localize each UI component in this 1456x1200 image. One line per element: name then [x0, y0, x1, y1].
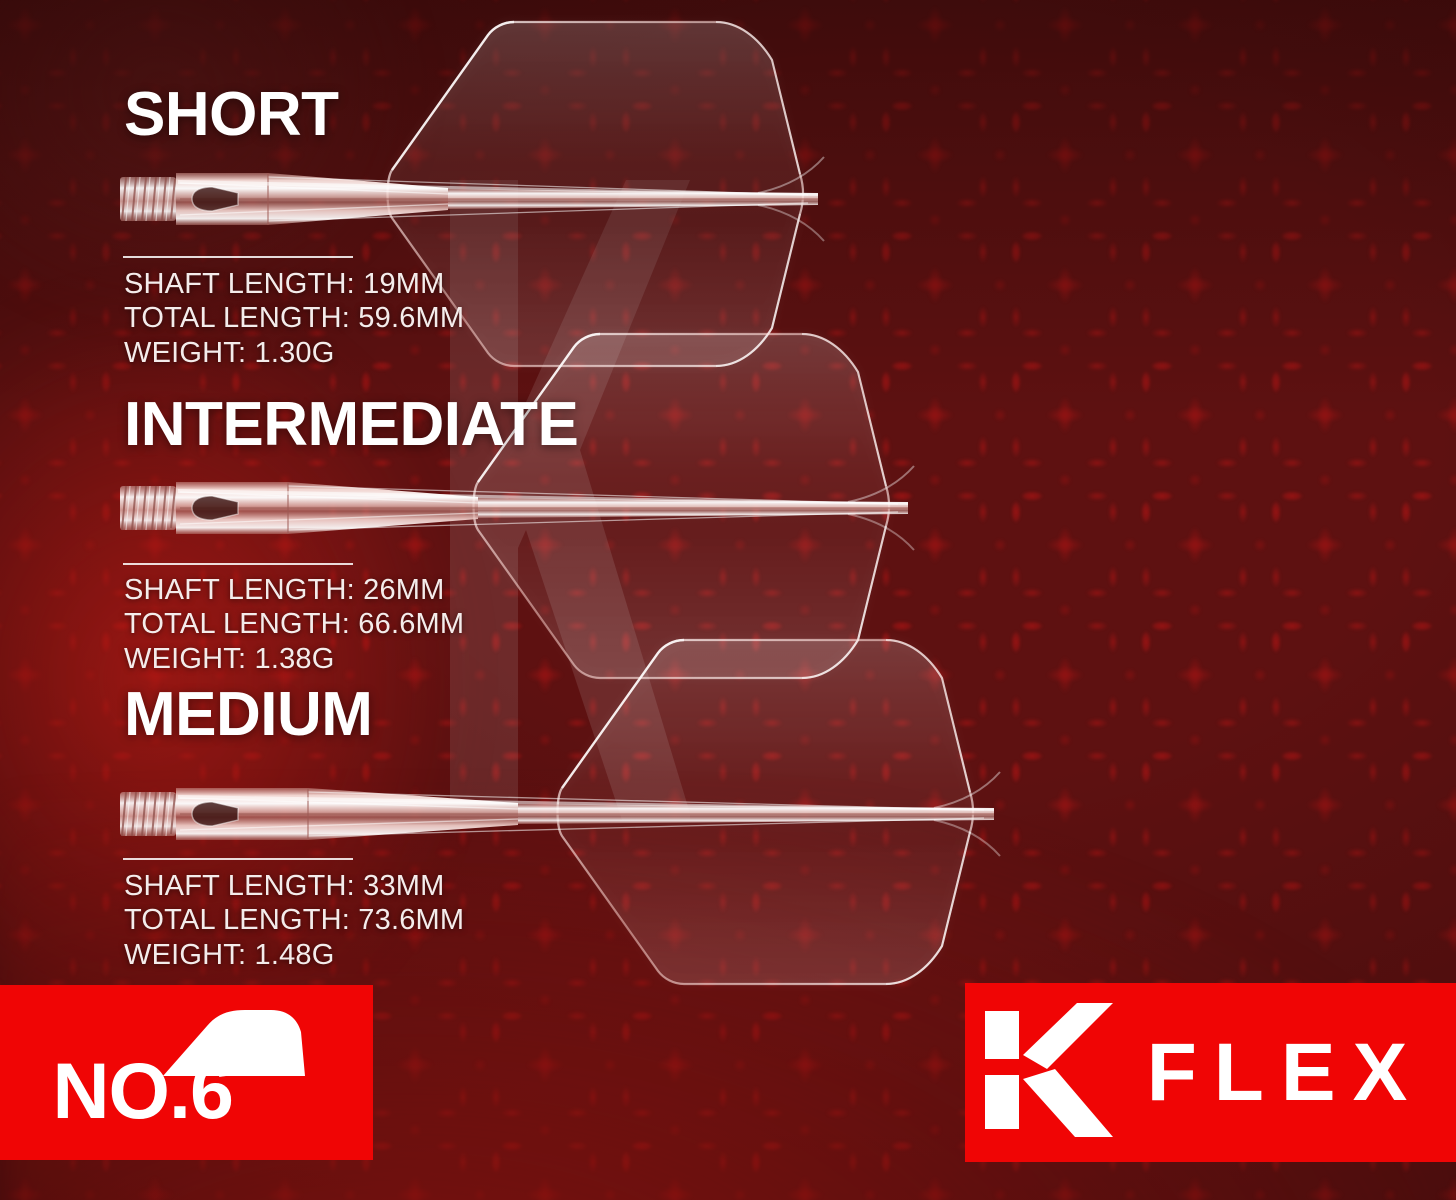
size-title-medium: MEDIUM	[124, 684, 372, 746]
size-title-intermediate: INTERMEDIATE	[124, 394, 578, 456]
shaft-thread	[120, 486, 176, 530]
divider-intermediate	[123, 563, 353, 565]
size-title-short: SHORT	[124, 84, 339, 146]
kflex-k-icon	[985, 1003, 1113, 1142]
spec-shaft-length-medium: SHAFT LENGTH: 33MM	[124, 869, 464, 903]
spec-shaft-length-intermediate: SHAFT LENGTH: 26MM	[124, 573, 464, 607]
brand-badge-no6: NO.6	[0, 985, 373, 1160]
spec-weight-intermediate: WEIGHT: 1.38G	[124, 642, 464, 676]
spec-total-length-intermediate: TOTAL LENGTH: 66.6MM	[124, 607, 464, 641]
spec-total-length-short: TOTAL LENGTH: 59.6MM	[124, 301, 464, 335]
shaft-thread	[120, 792, 176, 836]
spec-weight-medium: WEIGHT: 1.48G	[124, 938, 464, 972]
specs-short: SHAFT LENGTH: 19MM TOTAL LENGTH: 59.6MM …	[124, 267, 464, 370]
dart-shaft-medium	[118, 778, 994, 850]
brand-logo-kflex: FLEX	[965, 983, 1456, 1162]
spec-weight-short: WEIGHT: 1.30G	[124, 336, 464, 370]
specs-medium: SHAFT LENGTH: 33MM TOTAL LENGTH: 73.6MM …	[124, 869, 464, 972]
divider-medium	[123, 858, 353, 860]
shaft-thread	[120, 177, 176, 221]
spec-shaft-length-short: SHAFT LENGTH: 19MM	[124, 267, 464, 301]
specs-intermediate: SHAFT LENGTH: 26MM TOTAL LENGTH: 66.6MM …	[124, 573, 464, 676]
infographic-canvas: SHORT SHAFT LENGTH: 19MM TOTAL LENGTH: 5…	[0, 0, 1456, 1200]
spec-total-length-medium: TOTAL LENGTH: 73.6MM	[124, 903, 464, 937]
dart-shaft-intermediate	[118, 472, 908, 544]
dart-shaft-short	[118, 163, 818, 235]
divider-short	[123, 256, 353, 258]
no6-label: NO.6	[53, 1051, 321, 1130]
kflex-word-label: FLEX	[1143, 1032, 1425, 1114]
